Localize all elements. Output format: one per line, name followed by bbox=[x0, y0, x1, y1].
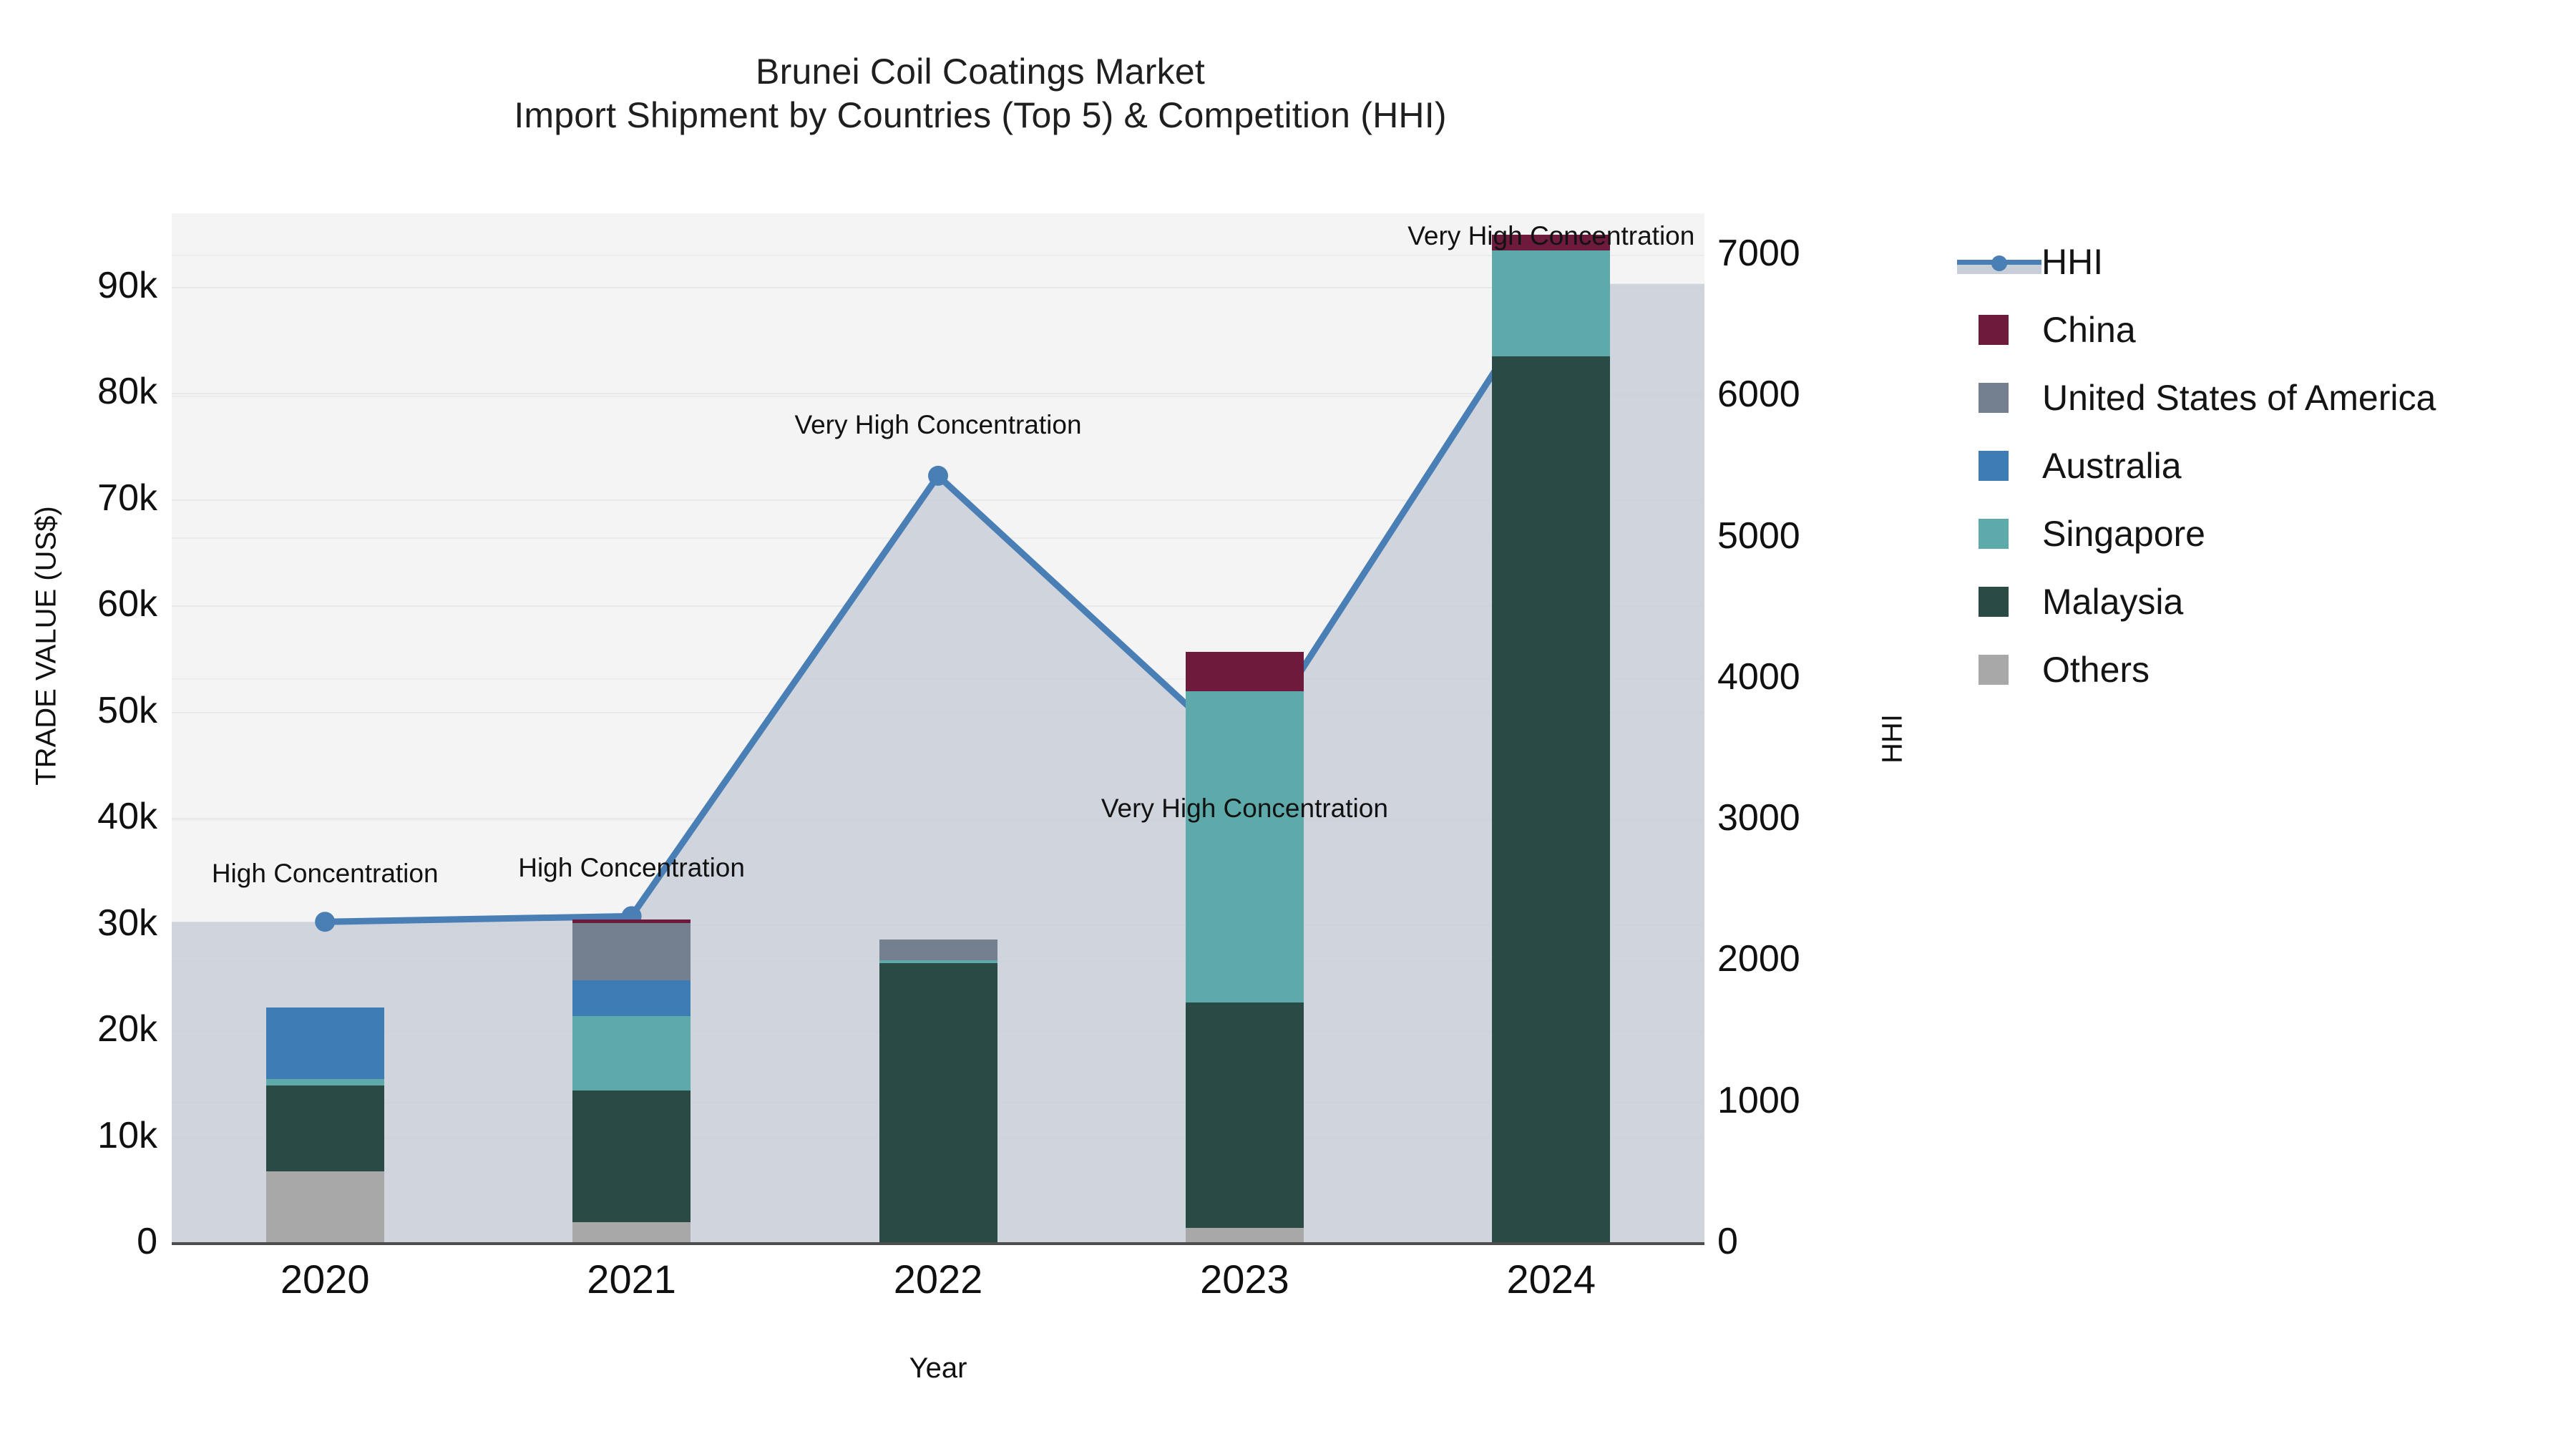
annotation-2020: High Concentration bbox=[212, 859, 439, 889]
y-tick-right: 6000 bbox=[1717, 373, 1896, 416]
bar-segment-united-states-of-america[interactable] bbox=[879, 940, 997, 960]
y-tick-right: 1000 bbox=[1717, 1079, 1896, 1122]
bar-group-2023[interactable] bbox=[1186, 213, 1304, 1244]
y-tick-left: 80k bbox=[21, 370, 157, 413]
bar-segment-others[interactable] bbox=[1186, 1228, 1304, 1244]
legend-item-hhi[interactable]: HHI bbox=[1957, 228, 2544, 296]
y-tick-right: 5000 bbox=[1717, 514, 1896, 557]
y-tick-right: 4000 bbox=[1717, 655, 1896, 698]
legend-swatch-icon bbox=[1979, 519, 2009, 549]
bar-group-2021[interactable] bbox=[572, 213, 691, 1244]
bar-group-2024[interactable] bbox=[1492, 213, 1610, 1244]
legend-swatch-icon bbox=[1979, 315, 2009, 345]
chart-title-line1: Brunei Coil Coatings Market bbox=[756, 52, 1205, 92]
legend-item-singapore[interactable]: Singapore bbox=[1957, 499, 2544, 567]
bar-segment-malaysia[interactable] bbox=[266, 1085, 384, 1171]
y-tick-right: 2000 bbox=[1717, 937, 1896, 980]
y-tick-left: 0 bbox=[21, 1220, 157, 1263]
y-tick-left: 90k bbox=[21, 264, 157, 307]
bar-segment-malaysia[interactable] bbox=[879, 963, 997, 1244]
x-tick-2020: 2020 bbox=[218, 1256, 432, 1302]
bar-segment-australia[interactable] bbox=[572, 980, 691, 1016]
annotation-2022: Very High Concentration bbox=[794, 410, 1081, 440]
legend-item-malaysia[interactable]: Malaysia bbox=[1957, 567, 2544, 635]
bar-segment-malaysia[interactable] bbox=[1492, 356, 1610, 1244]
legend-line-icon bbox=[1957, 247, 2041, 277]
annotation-2024: Very High Concentration bbox=[1407, 221, 1694, 251]
bar-segment-united-states-of-america[interactable] bbox=[572, 923, 691, 980]
legend-item-united-states-of-america[interactable]: United States of America bbox=[1957, 364, 2544, 431]
legend-item-label: Others bbox=[2042, 649, 2150, 691]
x-tick-2022: 2022 bbox=[831, 1256, 1045, 1302]
bar-segment-malaysia[interactable] bbox=[572, 1091, 691, 1222]
x-axis-title: Year bbox=[172, 1352, 1704, 1385]
y-tick-left: 10k bbox=[21, 1114, 157, 1157]
chart-legend: HHIChinaUnited States of AmericaAustrali… bbox=[1957, 228, 2544, 703]
bar-segment-singapore[interactable] bbox=[266, 1079, 384, 1085]
legend-item-china[interactable]: China bbox=[1957, 296, 2544, 364]
legend-swatch-icon bbox=[1979, 383, 2009, 413]
legend-swatch-icon bbox=[1979, 655, 2009, 685]
bar-segment-singapore[interactable] bbox=[1492, 250, 1610, 356]
chart-title-line2: Import Shipment by Countries (Top 5) & C… bbox=[172, 94, 1789, 137]
bar-segment-singapore[interactable] bbox=[572, 1016, 691, 1091]
y-axis-right-title: HHI bbox=[1877, 668, 1909, 811]
x-tick-2021: 2021 bbox=[525, 1256, 739, 1302]
legend-item-label: United States of America bbox=[2042, 377, 2436, 419]
legend-item-label: Singapore bbox=[2042, 513, 2205, 555]
legend-item-label: Malaysia bbox=[2042, 581, 2183, 623]
y-tick-left: 30k bbox=[21, 902, 157, 945]
y-tick-right: 3000 bbox=[1717, 796, 1896, 839]
legend-item-others[interactable]: Others bbox=[1957, 635, 2544, 703]
legend-item-australia[interactable]: Australia bbox=[1957, 431, 2544, 499]
bar-segment-china[interactable] bbox=[572, 919, 691, 922]
annotation-2023: Very High Concentration bbox=[1101, 794, 1388, 824]
legend-item-label: Australia bbox=[2042, 445, 2182, 487]
x-tick-2023: 2023 bbox=[1137, 1256, 1352, 1302]
bar-segment-singapore[interactable] bbox=[879, 960, 997, 963]
legend-item-label: China bbox=[2042, 309, 2136, 351]
bar-segment-malaysia[interactable] bbox=[1186, 1002, 1304, 1228]
annotation-2021: High Concentration bbox=[518, 853, 745, 883]
bar-segment-china[interactable] bbox=[1186, 652, 1304, 691]
page-title: Brunei Coil Coatings Market Import Shipm… bbox=[172, 50, 1789, 137]
legend-item-label: HHI bbox=[2041, 241, 2103, 283]
legend-swatch-icon bbox=[1979, 451, 2009, 481]
bar-segment-singapore[interactable] bbox=[1186, 691, 1304, 1002]
y-tick-left: 20k bbox=[21, 1008, 157, 1050]
y-tick-right: 0 bbox=[1717, 1220, 1896, 1263]
bar-segment-others[interactable] bbox=[572, 1222, 691, 1244]
x-tick-2024: 2024 bbox=[1444, 1256, 1659, 1302]
bar-segment-australia[interactable] bbox=[266, 1008, 384, 1078]
y-axis-left-title: TRADE VALUE (US$) bbox=[31, 424, 63, 868]
plot-area bbox=[172, 213, 1704, 1244]
x-axis-line bbox=[172, 1242, 1704, 1245]
bar-group-2022[interactable] bbox=[879, 213, 997, 1244]
bar-segment-others[interactable] bbox=[266, 1171, 384, 1244]
legend-swatch-icon bbox=[1979, 587, 2009, 617]
bar-group-2020[interactable] bbox=[266, 213, 384, 1244]
y-tick-right: 7000 bbox=[1717, 232, 1896, 275]
